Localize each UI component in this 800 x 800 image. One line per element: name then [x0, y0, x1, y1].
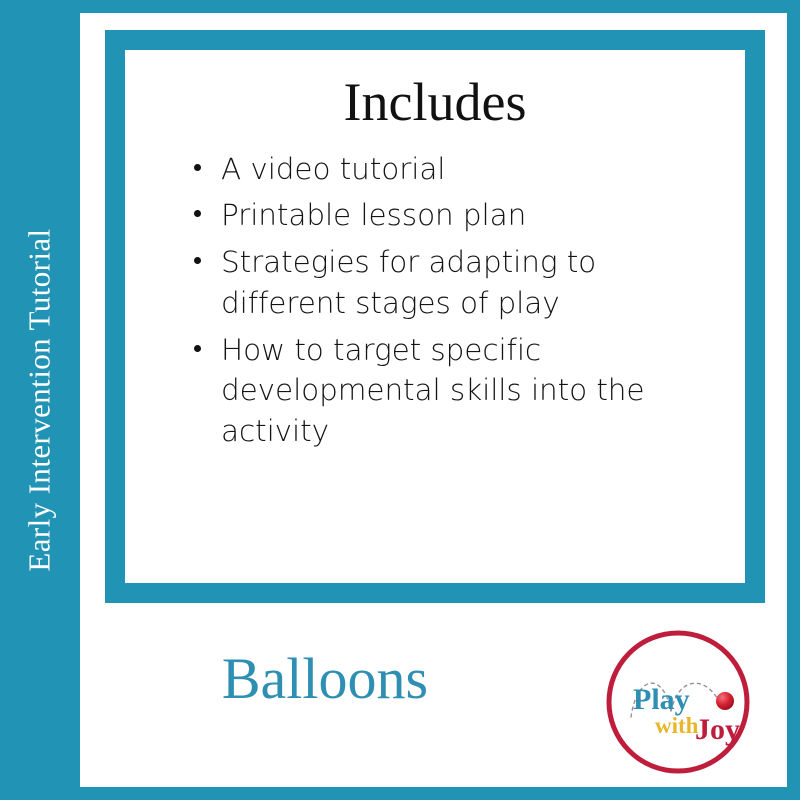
bottom-teal-band: [80, 787, 800, 800]
list-item-label: Printable lesson plan: [221, 198, 526, 232]
list-item: Strategies for adapting to different sta…: [221, 242, 721, 323]
top-teal-band: [80, 0, 800, 13]
list-item-label: Strategies for adapting to different sta…: [221, 245, 596, 320]
content-card-body: Includes A video tutorial Printable less…: [125, 50, 745, 583]
poster-footer: Balloons Play wit: [105, 612, 765, 780]
list-item-label: How to target specific developmental ski…: [221, 333, 644, 448]
activity-title: Balloons: [105, 650, 545, 708]
bullet-dot-icon: [194, 210, 201, 217]
list-item-label: A video tutorial: [221, 152, 445, 186]
list-item: Printable lesson plan: [221, 195, 721, 236]
svg-text:Play: Play: [633, 683, 690, 716]
svg-text:with: with: [655, 713, 699, 738]
svg-text:Joy: Joy: [695, 713, 740, 746]
bullet-dot-icon: [194, 345, 201, 352]
poster-canvas: Early Intervention Tutorial Includes A v…: [0, 0, 800, 800]
list-item: How to target specific developmental ski…: [221, 330, 721, 452]
play-with-joy-logo: Play with Joy: [603, 627, 753, 777]
includes-list: A video tutorial Printable lesson plan S…: [143, 149, 727, 452]
content-card-frame: Includes A video tutorial Printable less…: [105, 30, 765, 603]
list-item: A video tutorial: [221, 149, 721, 190]
bullet-dot-icon: [194, 257, 201, 264]
page-title: Includes: [143, 74, 727, 131]
left-teal-band: [0, 0, 80, 800]
right-teal-band: [787, 0, 800, 800]
bullet-dot-icon: [194, 164, 201, 171]
